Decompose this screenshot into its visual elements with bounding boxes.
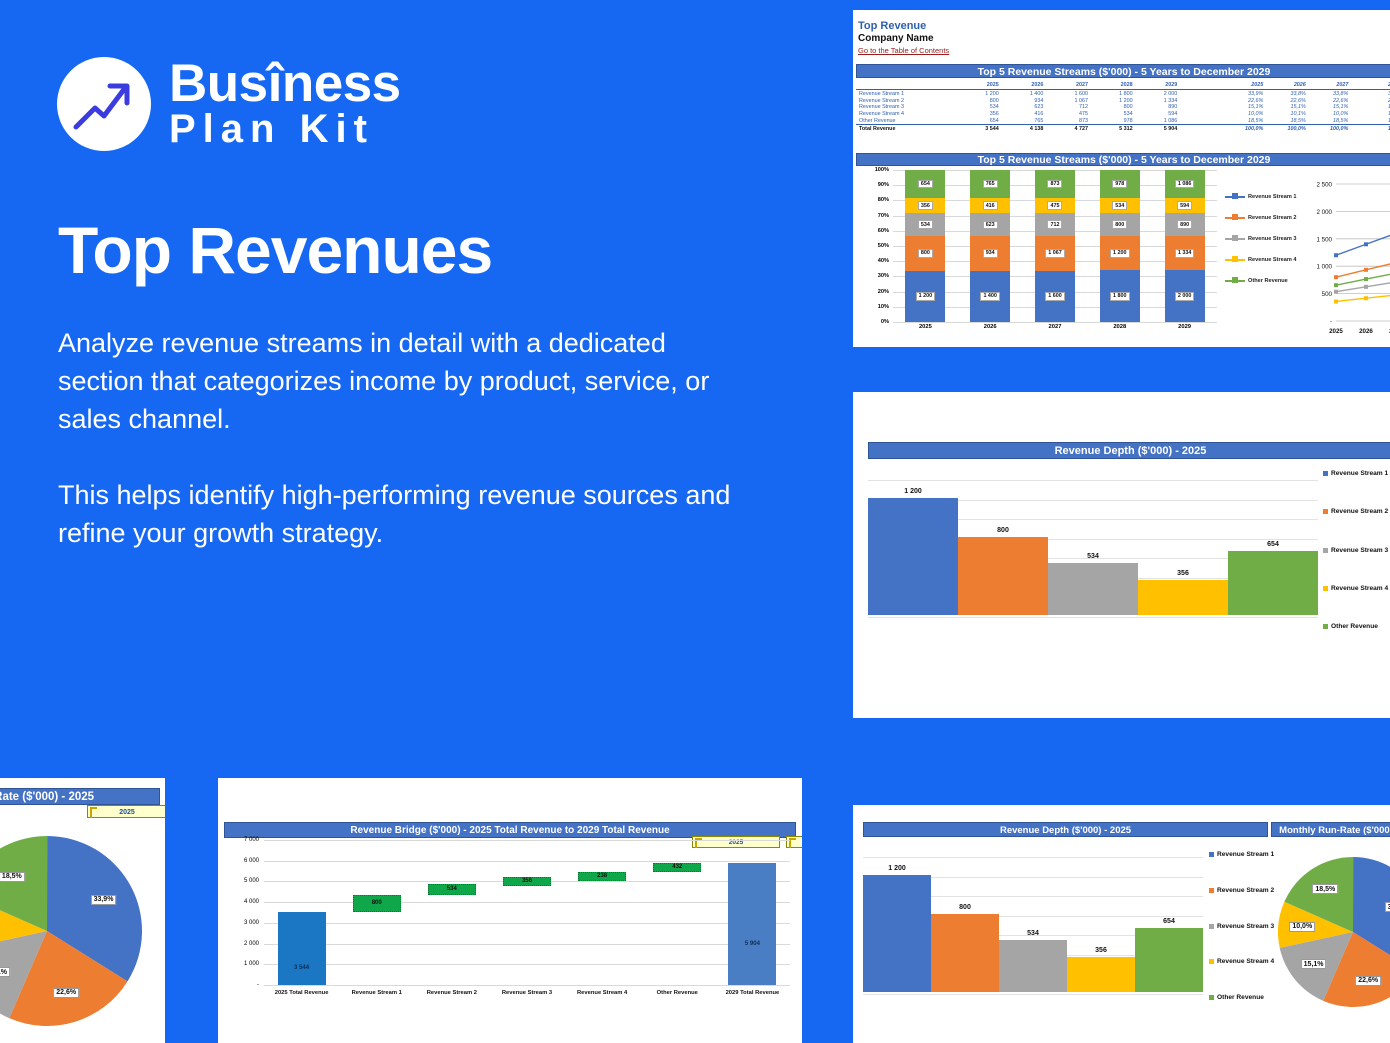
stack-segment: 534 (905, 213, 945, 236)
stack-segment: 1 067 (1035, 236, 1075, 270)
y-tick: 6 000 (244, 858, 259, 864)
depth-bar (931, 914, 999, 992)
y-tick: 50% (878, 243, 889, 249)
cell-value: 978 (1092, 118, 1137, 125)
col-header-pct: 2025 (1224, 82, 1267, 90)
pie-data-label: 10,0% (1289, 922, 1315, 932)
stack-segment: 1 200 (905, 271, 945, 322)
y-tick: 40% (878, 258, 889, 264)
cell-value: 2 000 (1137, 90, 1182, 97)
promo-paragraph-1: Analyze revenue streams in detail with a… (58, 325, 738, 438)
depth-bar (868, 498, 958, 615)
depth-value-label: 356 (1095, 947, 1107, 954)
stack-segment: 534 (1100, 198, 1140, 213)
sheet-header: Top Revenue Company Name Go to the Table… (853, 10, 1390, 55)
table-total-row: Total Revenue3 5444 1384 7275 3125 90410… (856, 125, 1390, 132)
depth-bar (958, 537, 1048, 615)
depth-value-label: 654 (1267, 541, 1279, 548)
bridge-y-axis: -1 0002 0003 0004 0005 0006 0007 000 (226, 840, 262, 985)
line-chart: -5001 0001 5002 0002 5002025202620272028… (1308, 170, 1390, 347)
legend-item: Revenue Stream 3 (1323, 547, 1388, 554)
run-rate-pie-chart: 33,9%22,6%15,1%10,0%18,5% (0, 836, 142, 1026)
stack-segment-label: 475 (1047, 201, 1062, 210)
stack-segment-label: 1 200 (916, 292, 936, 301)
x-tick: Other Revenue (640, 990, 715, 996)
stack-segment: 1 800 (1100, 270, 1140, 322)
company-name: Company Name (858, 33, 1390, 44)
legend-item: Other Revenue (1225, 270, 1305, 291)
depth-value-label: 800 (959, 904, 971, 911)
waterfall-column: 238 (565, 840, 640, 985)
depth-value-label: 534 (1027, 930, 1039, 937)
cell-value: 4 727 (1047, 125, 1092, 132)
stack-segment: 475 (1035, 198, 1075, 213)
waterfall-bar: 5 904 (728, 863, 776, 985)
cell-value: 800 (958, 97, 1003, 104)
x-tick: 2027 (1023, 324, 1088, 330)
stack-segment: 712 (1035, 213, 1075, 236)
legend-swatch (1323, 548, 1328, 553)
x-tick: Revenue Stream 4 (565, 990, 640, 996)
cell-pct: 3 (1351, 90, 1390, 97)
stack-segment: 623 (970, 213, 1010, 236)
pie-data-label: 33,9% (1385, 902, 1390, 912)
row-label: Revenue Stream 2 (856, 97, 958, 104)
x-tick: 2028 (1087, 324, 1152, 330)
legend-swatch (1323, 624, 1328, 629)
legend-item: Revenue Stream 2 (1323, 508, 1388, 515)
depth-bar (1048, 563, 1138, 615)
bridge-plot-area: 3 544 800 534 356 238 (264, 840, 790, 985)
cell-pct: 18,5% (1266, 118, 1309, 125)
stack-segment-label: 934 (983, 249, 998, 258)
pie-data-label: 22,6% (1355, 976, 1381, 986)
cell-pct: 2 (1351, 97, 1390, 104)
cell-pct: 33,8% (1266, 90, 1309, 97)
legend-item: Revenue Stream 2 (1209, 887, 1274, 894)
cell-value: 1 200 (1092, 97, 1137, 104)
col-header-pct: 2 (1351, 82, 1390, 90)
legend-marker (1225, 259, 1245, 261)
cell-value: 534 (1092, 111, 1137, 118)
stack-segment: 800 (905, 236, 945, 270)
x-tick: Revenue Stream 2 (414, 990, 489, 996)
y-tick: 100% (875, 167, 889, 173)
legend-item: Revenue Stream 3 (1225, 228, 1305, 249)
cell-value: 416 (1003, 111, 1048, 118)
chart-banner: Top 5 Revenue Streams ($'000) - 5 Years … (856, 153, 1390, 166)
cell-value: 594 (1137, 111, 1182, 118)
x-tick: 2029 Total Revenue (715, 990, 790, 996)
waterfall-value-label: 534 (447, 886, 457, 892)
cell-value: 890 (1137, 104, 1182, 111)
cell-pct: 33,8% (1309, 90, 1352, 97)
stack-segment-label: 623 (983, 221, 998, 230)
depth-value-label: 1 200 (888, 865, 906, 872)
cell-value: 1 600 (1047, 90, 1092, 97)
depth-value-label: 534 (1087, 553, 1099, 560)
logo-text-line2: Plan Kit (169, 110, 401, 149)
pie-data-label: 22,6% (53, 988, 79, 998)
legend-item: Revenue Stream 4 (1225, 249, 1305, 270)
y-tick: 0% (881, 319, 889, 325)
legend-marker (1225, 217, 1245, 219)
stack-segment-label: 534 (918, 220, 933, 229)
stack-segment-label: 800 (1112, 220, 1127, 229)
revenue-depth-chart-small: 1 200 800 534 356 654 (863, 843, 1203, 1008)
stack-segment: 594 (1165, 198, 1205, 213)
depth-plot-area: 1 200 800 534 356 654 (868, 480, 1318, 615)
stack-segment-label: 765 (983, 180, 998, 189)
page-title: Top Revenues (58, 212, 492, 288)
cell-pct: 22,6% (1309, 97, 1352, 104)
legend-marker (1225, 238, 1245, 240)
depth-bar (1138, 580, 1228, 615)
table-row: Revenue Stream 435641647553459410,0%10,1… (856, 111, 1390, 118)
x-tick: 2025 Total Revenue (264, 990, 339, 996)
cell-pct: 15,1% (1224, 104, 1267, 111)
waterfall-value-label: 356 (522, 878, 532, 884)
waterfall-column: 356 (489, 840, 564, 985)
depth-column: 534 (999, 857, 1067, 992)
y-tick: 80% (878, 197, 889, 203)
col-header-pct: 2026 (1266, 82, 1309, 90)
table-of-contents-link[interactable]: Go to the Table of Contents (858, 46, 1390, 55)
y-tick: 90% (878, 182, 889, 188)
cell-pct: 15,1% (1266, 104, 1309, 111)
row-label: Revenue Stream 1 (856, 90, 958, 97)
legend-swatch (1209, 995, 1214, 1000)
stack-segment: 356 (905, 198, 945, 213)
stack-column: 654 356 534 800 1 200 (893, 170, 958, 322)
stack-segment-label: 1 800 (1110, 292, 1130, 301)
y-tick: 60% (878, 228, 889, 234)
waterfall-column: 432 (640, 840, 715, 985)
waterfall-column: 534 (414, 840, 489, 985)
legend-marker (1225, 196, 1245, 198)
row-label: Other Revenue (856, 118, 958, 125)
stack-segment: 873 (1035, 170, 1075, 198)
waterfall-value-label: 5 904 (745, 941, 760, 947)
stack-segment: 416 (970, 198, 1010, 213)
legend-swatch (1209, 959, 1214, 964)
table-row: Revenue Stream 353462371280089015,1%15,1… (856, 104, 1390, 111)
depth-column: 1 200 (863, 857, 931, 992)
stack-segment-label: 2 000 (1175, 292, 1195, 301)
cell-value: 1 400 (1003, 90, 1048, 97)
stack-segment: 1 086 (1165, 170, 1205, 198)
stack-segment: 978 (1100, 170, 1140, 198)
x-tick: 2029 (1152, 324, 1217, 330)
legend-swatch (1323, 471, 1328, 476)
legend-item: Revenue Stream 2 (1225, 207, 1305, 228)
table-row: Other Revenue6547658739781 08618,5%18,5%… (856, 118, 1390, 125)
legend-label: Revenue Stream 4 (1217, 958, 1274, 965)
monthly-runrate-banner: Monthly Run-Rate ($'000) (1271, 822, 1390, 837)
growth-arrow-icon (73, 75, 135, 133)
legend-label: Revenue Stream 3 (1217, 923, 1274, 930)
y-tick: 3 000 (244, 920, 259, 926)
waterfall-value-label: 238 (597, 873, 607, 879)
revenue-depth-chart-large: 1 200 800 534 356 654 (868, 466, 1318, 631)
svg-text:-: - (1330, 319, 1332, 326)
stack-segment-label: 712 (1047, 220, 1062, 229)
panel-revenue-bridge[interactable]: Revenue Bridge ($'000) - 2025 Total Reve… (218, 778, 802, 1043)
sheet-title: Top Revenue (858, 20, 1390, 32)
legend-item: Other Revenue (1323, 623, 1388, 630)
stack-segment-label: 1 067 (1045, 249, 1065, 258)
cell-value: 3 544 (958, 125, 1003, 132)
stack-column: 765 416 623 934 1 400 (958, 170, 1023, 322)
waterfall-bar: 800 (353, 895, 401, 912)
col-header: 2029 (1137, 82, 1182, 90)
y-tick: - (257, 982, 259, 988)
panel-run-rate-pie[interactable]: Run-Rate ($'000) - 2025 2025 33,9%22,6%1… (0, 778, 165, 1043)
depth-bar (1067, 957, 1135, 992)
stack-segment: 765 (970, 170, 1010, 198)
waterfall-column: 5 904 (715, 840, 790, 985)
stack-segment: 1 600 (1035, 271, 1075, 322)
cell-pct: 22,6% (1224, 97, 1267, 104)
cell-pct: 22,6% (1266, 97, 1309, 104)
promo-panel: Busîness Plan Kit Top Revenues Analyze r… (0, 0, 840, 755)
stack-segment-label: 416 (983, 201, 998, 210)
legend-label: Revenue Stream 2 (1217, 887, 1274, 894)
legend-item: Revenue Stream 3 (1209, 923, 1274, 930)
legend-swatch (1209, 924, 1214, 929)
x-tick: 2025 (893, 324, 958, 330)
panel-revenue-depth-large[interactable]: Revenue Depth ($'000) - 2025 1 200 800 5… (853, 392, 1390, 718)
cell-value: 534 (958, 104, 1003, 111)
legend-label: Revenue Stream 4 (1248, 257, 1297, 263)
stack-segment-label: 1 600 (1045, 292, 1065, 301)
cell-value: 5 312 (1092, 125, 1137, 132)
svg-text:2025: 2025 (1329, 328, 1343, 335)
stacked-chart-legend: Revenue Stream 1 Revenue Stream 2 Revenu… (1225, 186, 1305, 291)
depth-column: 800 (931, 857, 999, 992)
stack-segment-label: 1 400 (980, 292, 1000, 301)
cell-pct: 100,0% (1309, 125, 1352, 132)
revenue-depth-legend-large: Revenue Stream 1 Revenue Stream 2 Revenu… (1323, 470, 1388, 630)
col-header-pct: 2027 (1309, 82, 1352, 90)
table-banner: Top 5 Revenue Streams ($'000) - 5 Years … (856, 64, 1390, 78)
waterfall-bar: 3 544 (278, 912, 326, 985)
legend-label: Revenue Stream 3 (1248, 236, 1297, 242)
cell-value: 356 (958, 111, 1003, 118)
cell-value: 934 (1003, 97, 1048, 104)
depth-bar (1228, 551, 1318, 615)
legend-label: Revenue Stream 2 (1331, 508, 1388, 515)
legend-marker (1225, 280, 1245, 282)
y-tick: 7 000 (244, 837, 259, 843)
cell-value: 1 067 (1047, 97, 1092, 104)
table-row: Revenue Stream 28009341 0671 2001 33422,… (856, 97, 1390, 104)
cell-value: 4 138 (1003, 125, 1048, 132)
y-tick: 30% (878, 273, 889, 279)
waterfall-column: 800 (339, 840, 414, 985)
cell-value: 800 (1092, 104, 1137, 111)
stack-segment-label: 1 200 (1110, 249, 1130, 258)
legend-label: Revenue Stream 3 (1331, 547, 1388, 554)
cell-value: 623 (1003, 104, 1048, 111)
x-tick: Revenue Stream 1 (339, 990, 414, 996)
depth-value-label: 654 (1163, 918, 1175, 925)
depth-bar (863, 875, 931, 992)
waterfall-bar: 432 (653, 863, 701, 872)
stack-column: 978 534 800 1 200 1 800 (1087, 170, 1152, 322)
y-tick: 4 000 (244, 899, 259, 905)
waterfall-value-label: 432 (672, 864, 682, 870)
cell-value: 1 086 (1137, 118, 1182, 125)
row-label: Revenue Stream 3 (856, 104, 958, 111)
cell-pct: 10,0% (1224, 111, 1267, 118)
x-tick: 2026 (958, 324, 1023, 330)
cell-pct: 10,0% (1309, 111, 1352, 118)
pie-data-label: 33,9% (91, 895, 117, 905)
legend-swatch (1323, 586, 1328, 591)
depth-column: 534 (1048, 480, 1138, 615)
stack-column: 1 086 594 890 1 334 2 000 (1152, 170, 1217, 322)
stack-segment: 1 334 (1165, 236, 1205, 270)
cell-pct: 100,0% (1266, 125, 1309, 132)
stack-segment: 934 (970, 236, 1010, 270)
y-tick: 5 000 (244, 878, 259, 884)
legend-swatch (1209, 888, 1214, 893)
legend-label: Other Revenue (1217, 994, 1264, 1001)
depth-bar (999, 940, 1067, 992)
legend-item: Other Revenue (1209, 994, 1274, 1001)
panel-depth-and-runrate[interactable]: Revenue Depth ($'000) - 2025 Monthly Run… (853, 805, 1390, 1043)
cell-pct: 1 (1351, 111, 1390, 118)
cell-pct: 33,9% (1224, 90, 1267, 97)
legend-item: Revenue Stream 4 (1209, 958, 1274, 965)
cell-value: 654 (958, 118, 1003, 125)
depth-column: 654 (1228, 480, 1318, 615)
waterfall-value-label: 3 544 (294, 965, 309, 971)
depth-value-label: 1 200 (904, 488, 922, 495)
cell-value: 1 800 (1092, 90, 1137, 97)
legend-label: Other Revenue (1248, 278, 1288, 284)
y-tick: 10% (878, 304, 889, 310)
stack-segment: 2 000 (1165, 270, 1205, 321)
logo-text-line1: Busîness (169, 58, 401, 110)
stacked-x-axis: 20252026202720282029 (893, 324, 1217, 330)
pie-data-label: 18,5% (0, 872, 25, 882)
cell-value: 5 904 (1137, 125, 1182, 132)
stack-segment: 890 (1165, 213, 1205, 236)
col-header: 2028 (1092, 82, 1137, 90)
depth-value-label: 356 (1177, 570, 1189, 577)
cell-pct: 1 (1351, 118, 1390, 125)
legend-swatch (1323, 509, 1328, 514)
legend-item: Revenue Stream 1 (1225, 186, 1305, 207)
stack-segment-label: 594 (1177, 201, 1192, 210)
svg-text:500: 500 (1322, 291, 1333, 298)
table-row: Revenue Stream 11 2001 4001 6001 8002 00… (856, 90, 1390, 97)
depth-column: 1 200 (868, 480, 958, 615)
legend-swatch (1209, 852, 1214, 857)
waterfall-bar: 238 (578, 872, 626, 881)
stack-segment-label: 978 (1112, 180, 1127, 189)
cell-pct: 1 (1351, 104, 1390, 111)
run-rate-year-selector[interactable]: 2025 (87, 805, 165, 818)
cell-value: 1 334 (1137, 97, 1182, 104)
table-header-row: 202520262027202820292025202620272 (856, 82, 1390, 90)
cell-value: 475 (1047, 111, 1092, 118)
brand-logo: Busîness Plan Kit (57, 57, 401, 151)
col-header: 2025 (958, 82, 1003, 90)
waterfall-chart: -1 0002 0003 0004 0005 0006 0007 000 3 5… (226, 840, 796, 1040)
cell-pct: 1 (1351, 125, 1390, 132)
stack-segment-label: 1 086 (1175, 180, 1195, 189)
revenue-depth-banner: Revenue Depth ($'000) - 2025 (868, 442, 1390, 459)
pie-data-label: 18,5% (1312, 884, 1338, 894)
depth-column: 654 (1135, 857, 1203, 992)
depth-value-label: 800 (997, 527, 1009, 534)
x-tick: Revenue Stream 3 (489, 990, 564, 996)
stack-segment-label: 800 (918, 249, 933, 258)
y-tick: 20% (878, 289, 889, 295)
stacked-y-axis: 0%10%20%30%40%50%60%70%80%90%100% (861, 170, 891, 322)
svg-text:1 500: 1 500 (1317, 236, 1333, 243)
y-tick: 2 000 (244, 941, 259, 947)
cell-pct: 18,5% (1309, 118, 1352, 125)
legend-item: Revenue Stream 1 (1209, 851, 1274, 858)
pie-data-label: 15,1% (0, 967, 10, 977)
stack-segment-label: 534 (1112, 201, 1127, 210)
stack-segment: 1 200 (1100, 236, 1140, 270)
depth-column: 356 (1067, 857, 1135, 992)
depth-column: 800 (958, 480, 1048, 615)
legend-label: Revenue Stream 4 (1331, 585, 1388, 592)
cell-pct: 10,1% (1266, 111, 1309, 118)
waterfall-bar: 356 (503, 877, 551, 886)
depth-bar (1135, 928, 1203, 992)
monthly-runrate-pie-chart: 33,9%22,6%15,1%10,0%18,5% (1278, 857, 1390, 1007)
waterfall-bar: 534 (428, 884, 476, 895)
legend-label: Other Revenue (1331, 623, 1378, 630)
logo-circle (57, 57, 151, 151)
depth-column: 356 (1138, 480, 1228, 615)
stack-segment-label: 1 334 (1175, 249, 1195, 258)
cell-pct: 18,5% (1224, 118, 1267, 125)
svg-text:2 500: 2 500 (1317, 182, 1333, 189)
svg-text:2026: 2026 (1359, 328, 1373, 335)
waterfall-value-label: 800 (372, 900, 382, 906)
svg-text:1 000: 1 000 (1317, 264, 1333, 271)
cell-pct: 15,1% (1309, 104, 1352, 111)
legend-label: Revenue Stream 1 (1217, 851, 1274, 858)
depth-banner-small: Revenue Depth ($'000) - 2025 (863, 822, 1268, 837)
y-tick: 1 000 (244, 961, 259, 967)
legend-label: Revenue Stream 1 (1331, 470, 1388, 477)
cell-value: 765 (1003, 118, 1048, 125)
line-chart-svg: -5001 0001 5002 0002 5002025202620272028… (1308, 170, 1390, 347)
legend-label: Revenue Stream 2 (1248, 215, 1297, 221)
stacked-bar-chart: 0%10%20%30%40%50%60%70%80%90%100% 654 35… (861, 170, 1221, 347)
promo-paragraph-2: This helps identify high-performing reve… (58, 477, 738, 553)
y-tick: 70% (878, 213, 889, 219)
cell-value: 873 (1047, 118, 1092, 125)
panel-top-revenue-sheet[interactable]: Top Revenue Company Name Go to the Table… (853, 10, 1390, 347)
run-rate-banner: Run-Rate ($'000) - 2025 (0, 788, 160, 805)
stack-segment-label: 890 (1177, 220, 1192, 229)
svg-text:2 000: 2 000 (1317, 209, 1333, 216)
cell-pct: 100,0% (1224, 125, 1267, 132)
stack-segment: 800 (1100, 213, 1140, 236)
stack-segment: 1 400 (970, 271, 1010, 322)
cell-value: 1 200 (958, 90, 1003, 97)
